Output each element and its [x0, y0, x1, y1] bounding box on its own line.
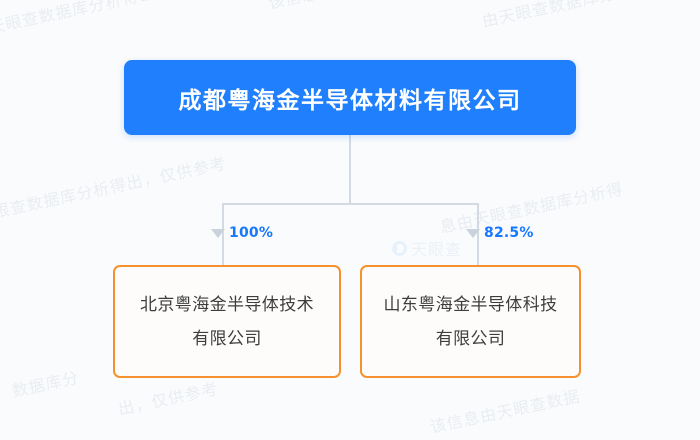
watermark-text: 由天眼查数据库分析得出，仅 — [0, 0, 191, 42]
watermark-text: 由天眼查数据库分析得 — [480, 0, 651, 32]
child-company-node-left[interactable]: 北京粤海金半导体技术有限公司 — [113, 265, 341, 378]
watermark-text: 出，仅供参考 — [116, 375, 221, 420]
ownership-percent-left: 100% — [229, 225, 273, 241]
ownership-diagram-canvas: 由天眼查数据库分析得出，仅 该信息由天眼查数据库分析得出 由天眼查数据库分析得 … — [0, 0, 700, 440]
tianyancha-logo-icon — [392, 241, 407, 256]
child-company-node-right[interactable]: 山东粤海金半导体科技有限公司 — [360, 265, 581, 378]
ownership-label-left: 100% — [211, 225, 273, 241]
arrow-down-icon — [211, 229, 225, 238]
child-company-label-left: 北京粤海金半导体技术有限公司 — [133, 288, 321, 356]
watermark-text: 该信息由天眼查数据 — [428, 382, 583, 437]
watermark-text: 数据库分 — [10, 364, 82, 402]
watermark-text: 由天眼查数据库分析得出，仅供参考 — [0, 150, 229, 230]
root-company-label: 成都粤海金半导体材料有限公司 — [179, 81, 522, 115]
arrow-down-icon — [466, 229, 480, 238]
watermark-text: 该信息由天眼查数据库分析得出 — [266, 0, 504, 14]
root-company-node[interactable]: 成都粤海金半导体材料有限公司 — [124, 60, 576, 135]
ownership-percent-right: 82.5% — [484, 225, 534, 241]
watermark-logo-label: 天眼查 — [411, 236, 462, 260]
ownership-label-right: 82.5% — [466, 225, 534, 241]
connector-root-stem — [349, 135, 351, 205]
child-company-label-right: 山东粤海金半导体科技有限公司 — [380, 288, 561, 356]
watermark-logo: 天眼查 — [392, 236, 462, 260]
connector-horizontal-bar — [222, 203, 479, 205]
